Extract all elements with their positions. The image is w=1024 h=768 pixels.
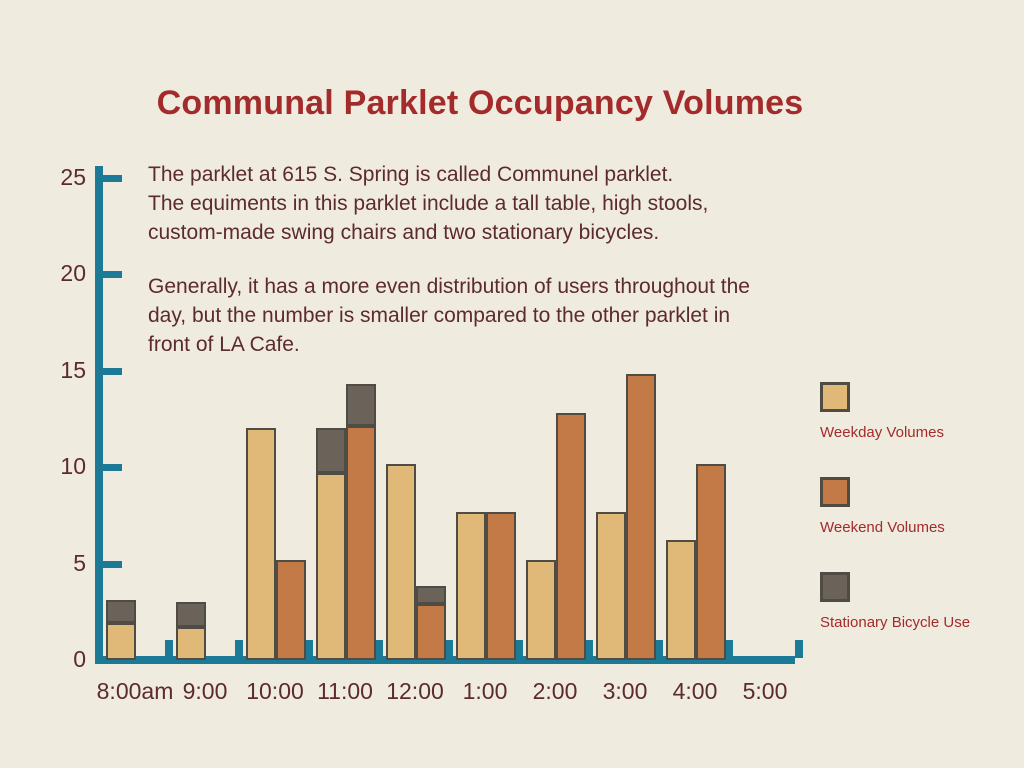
y-axis-label: 25 [40,164,86,191]
x-axis-tick [165,640,173,658]
bar-weekend [276,560,306,660]
x-axis-label: 9:00 [183,678,228,705]
legend-label: Stationary Bicycle Use [820,614,1020,631]
legend-swatch [820,382,850,412]
bar-bicycle-weekday [316,428,346,472]
y-axis-tick [103,561,122,568]
x-axis-label: 3:00 [603,678,648,705]
bar-weekend [556,413,586,660]
x-axis-tick [655,640,663,658]
bar-bicycle-weekend [346,384,376,426]
y-axis-tick [103,175,122,182]
y-axis-label: 5 [40,550,86,577]
legend-item[interactable]: Weekend Volumes [820,477,1020,536]
x-axis-tick [795,640,803,658]
bar-weekday [456,512,486,660]
bar-weekday [526,560,556,660]
bar-weekday [246,428,276,660]
bar-bicycle-weekend [416,586,446,604]
legend-item[interactable]: Stationary Bicycle Use [820,572,1020,631]
x-axis-label: 10:00 [246,678,304,705]
x-axis-tick [305,640,313,658]
bar-weekday [386,464,416,660]
bar-weekday [106,623,136,660]
legend-swatch [820,477,850,507]
bar-weekend [626,374,656,660]
x-axis-label: 1:00 [463,678,508,705]
legend-item[interactable]: Weekday Volumes [820,382,1020,441]
x-axis-label: 11:00 [317,678,373,705]
bar-weekend [696,464,726,660]
y-axis-label: 0 [40,646,86,673]
y-axis-tick [103,464,122,471]
bar-weekend [486,512,516,660]
y-axis-line [95,166,103,664]
bar-bicycle-weekday [106,600,136,623]
bar-weekday [596,512,626,660]
x-axis-label: 12:00 [386,678,444,705]
bar-weekend [346,426,376,660]
bar-weekday [666,540,696,660]
bar-weekday [316,473,346,660]
x-axis-tick [725,640,733,658]
y-axis-label: 15 [40,357,86,384]
y-axis-tick [103,368,122,375]
bar-weekday [176,627,206,660]
x-axis-label: 8:00am [97,678,174,705]
x-axis-label: 2:00 [533,678,578,705]
x-axis-tick [445,640,453,658]
x-axis-tick [235,640,243,658]
legend-label: Weekend Volumes [820,519,1020,536]
x-axis-label: 5:00 [743,678,788,705]
y-axis-tick [103,271,122,278]
x-axis-tick [585,640,593,658]
x-axis-tick [375,640,383,658]
bar-weekend [416,604,446,660]
x-axis-tick [515,640,523,658]
x-axis-label: 4:00 [673,678,718,705]
legend-label: Weekday Volumes [820,424,1020,441]
legend-swatch [820,572,850,602]
y-axis-label: 10 [40,453,86,480]
bar-bicycle-weekday [176,602,206,627]
y-axis-label: 20 [40,260,86,287]
